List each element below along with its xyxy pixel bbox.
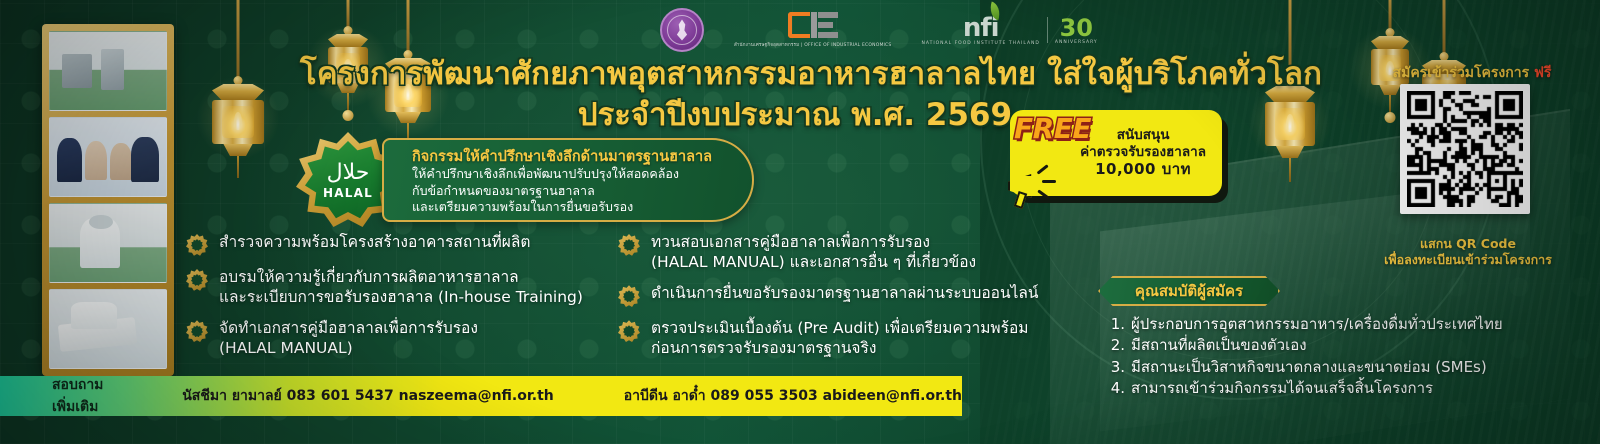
list-item: สำรวจความพร้อมโครงสร้างอาคารสถานที่ผลิต <box>186 232 616 256</box>
nfi-logo-icon: nfi NATIONAL FOOD INSTITUTE THAILAND 30 … <box>921 15 1097 46</box>
qualifications-heading: คุณสมบัติผู้สมัคร <box>1098 276 1280 306</box>
activity-description-panel: กิจกรรมให้คำปรึกษาเชิงลึกด้านมาตรฐานฮาลา… <box>382 138 754 222</box>
ministry-of-industry-seal-icon <box>660 8 704 52</box>
activity-line-1: ให้คำปรึกษาเชิงลึกเพื่อพัฒนาปรับปรุงให้ส… <box>412 166 732 183</box>
partner-logos: สำนักงานเศรษฐกิจอุตสาหกรรม | OFFICE OF I… <box>660 8 1098 52</box>
qualifications-list: 1. ผู้ประกอบการอุตสาหกรรมอาหาร/เครื่องดื… <box>1110 314 1590 399</box>
qr-code[interactable] <box>1400 84 1530 214</box>
oie-caption: สำนักงานเศรษฐกิจอุตสาหกรรม | OFFICE OF I… <box>734 41 891 48</box>
photo-strip <box>42 24 174 376</box>
qualification-text: มีสถานะเป็นวิสาหกิจขนาดกลางและขนาดย่อม (… <box>1131 357 1487 378</box>
list-item-text: ตรวจประเมินเบื้องต้น (Pre Audit) เพื่อเต… <box>651 318 1029 358</box>
qualification-number: 1. <box>1110 314 1125 335</box>
list-item-text: ดำเนินการยื่นขอรับรองมาตรฐานฮาลาลผ่านระบ… <box>651 283 1038 303</box>
rosette-bullet-icon <box>186 269 208 291</box>
contact-bar: สอบถามเพิ่มเติม นัสชีมา ยามาลย์ 083 601 … <box>0 376 962 416</box>
service-list-left: สำรวจความพร้อมโครงสร้างอาคารสถานที่ผลิต … <box>186 232 616 370</box>
photo-production-line <box>49 31 167 111</box>
qr-footer: แสกน QR Code เพื่อลงทะเบียนเข้าร่วมโครงก… <box>1352 236 1584 269</box>
free-label: FREE <box>1014 112 1091 145</box>
service-list-right: ทวนสอบเอกสารคู่มือฮาลาลเพื่อการรับรอง(HA… <box>618 232 1070 370</box>
list-item: 3. มีสถานะเป็นวิสาหกิจขนาดกลางและขนาดย่อ… <box>1110 357 1590 378</box>
halal-english-text: HALAL <box>323 187 373 199</box>
halal-arabic-text: حلال <box>327 162 370 184</box>
photo-inspector <box>49 203 167 283</box>
oie-logo-icon: สำนักงานเศรษฐกิจอุตสาหกรรม | OFFICE OF I… <box>734 12 891 48</box>
nfi-wordmark: nfi <box>963 15 999 41</box>
list-item-text: จัดทำเอกสารคู่มือฮาลาลเพื่อการรับรอง(HAL… <box>219 318 478 358</box>
qualification-text: มีสถานที่ผลิตเป็นของตัวเอง <box>1131 335 1307 356</box>
free-support-amount: 10,000 บาท <box>1080 160 1206 178</box>
list-item: ทวนสอบเอกสารคู่มือฮาลาลเพื่อการรับรอง(HA… <box>618 232 1070 272</box>
qualification-number: 4. <box>1110 378 1125 399</box>
rosette-bullet-icon <box>618 320 640 342</box>
contact-person-1: นัสชีมา ยามาลย์ 083 601 5437 naszeema@nf… <box>182 385 554 407</box>
list-item: ดำเนินการยื่นขอรับรองมาตรฐานฮาลาลผ่านระบ… <box>618 283 1070 307</box>
photo-business-meeting <box>49 117 167 197</box>
list-item: 2. มีสถานที่ผลิตเป็นของตัวเอง <box>1110 335 1590 356</box>
qr-footer-line-1: แสกน QR Code <box>1352 236 1584 252</box>
qr-footer-line-2: เพื่อลงทะเบียนเข้าร่วมโครงการ <box>1352 252 1584 268</box>
photo-document-review <box>49 289 167 369</box>
list-item: 1. ผู้ประกอบการอุตสาหกรรมอาหาร/เครื่องดื… <box>1110 314 1590 335</box>
list-item-text: สำรวจความพร้อมโครงสร้างอาคารสถานที่ผลิต <box>219 232 530 252</box>
activity-line-3: และเตรียมความพร้อมในการยื่นขอรับรอง <box>412 199 732 216</box>
megaphone-icon <box>1000 162 1058 208</box>
list-item: จัดทำเอกสารคู่มือฮาลาลเพื่อการรับรอง(HAL… <box>186 318 616 358</box>
qualification-number: 2. <box>1110 335 1125 356</box>
activity-heading: กิจกรรมให้คำปรึกษาเชิงลึกด้านมาตรฐานฮาลา… <box>412 148 732 166</box>
free-subsidy-badge: สนับสนุน ค่าตรวจรับรองฮาลาล 10,000 บาท F… <box>1000 110 1230 210</box>
qr-heading-free: ฟรี <box>1534 65 1551 81</box>
rosette-bullet-icon <box>618 234 640 256</box>
qr-heading: สมัครเข้าร่วมโครงการ ฟรี <box>1352 62 1592 84</box>
list-item: อบรมให้ความรู้เกี่ยวกับการผลิตอาหารฮาลาล… <box>186 267 616 307</box>
qualification-text: สามารถเข้าร่วมกิจกรรมได้จนเสร็จสิ้นโครงก… <box>1131 378 1433 399</box>
list-item-text: อบรมให้ความรู้เกี่ยวกับการผลิตอาหารฮาลาล… <box>219 267 583 307</box>
rosette-bullet-icon <box>186 234 208 256</box>
list-item: 4. สามารถเข้าร่วมกิจกรรมได้จนเสร็จสิ้นโค… <box>1110 378 1590 399</box>
rosette-bullet-icon <box>186 320 208 342</box>
free-support-line-1: สนับสนุน <box>1080 127 1206 143</box>
qualifications-heading-text: คุณสมบัติผู้สมัคร <box>1135 279 1243 303</box>
free-support-line-2: ค่าตรวจรับรองฮาลาล <box>1080 144 1206 160</box>
title-line-1: โครงการพัฒนาศักยภาพอุตสาหกรรมอาหารฮาลาลไ… <box>300 56 1290 93</box>
qr-code-image <box>1407 91 1523 207</box>
contact-person-2: อาบีดีน อาด๋ำ 089 055 3503 abideen@nfi.o… <box>624 385 962 407</box>
contact-label: สอบถามเพิ่มเติม <box>52 374 126 418</box>
halal-program-banner: สำนักงานเศรษฐกิจอุตสาหกรรม | OFFICE OF I… <box>0 0 1600 444</box>
nfi-anniversary-number: 30 <box>1060 16 1093 40</box>
nfi-anniversary-label: ANNIVERSARY <box>1055 40 1098 45</box>
qualification-text: ผู้ประกอบการอุตสาหกรรมอาหาร/เครื่องดื่มท… <box>1131 314 1503 335</box>
activity-line-2: กับข้อกำหนดของมาตรฐานฮาลาล <box>412 183 732 200</box>
list-item: ตรวจประเมินเบื้องต้น (Pre Audit) เพื่อเต… <box>618 318 1070 358</box>
qr-heading-main: สมัครเข้าร่วมโครงการ <box>1393 65 1530 81</box>
list-item-text: ทวนสอบเอกสารคู่มือฮาลาลเพื่อการรับรอง(HA… <box>651 232 976 272</box>
rosette-bullet-icon <box>618 285 640 307</box>
qualification-number: 3. <box>1110 357 1125 378</box>
